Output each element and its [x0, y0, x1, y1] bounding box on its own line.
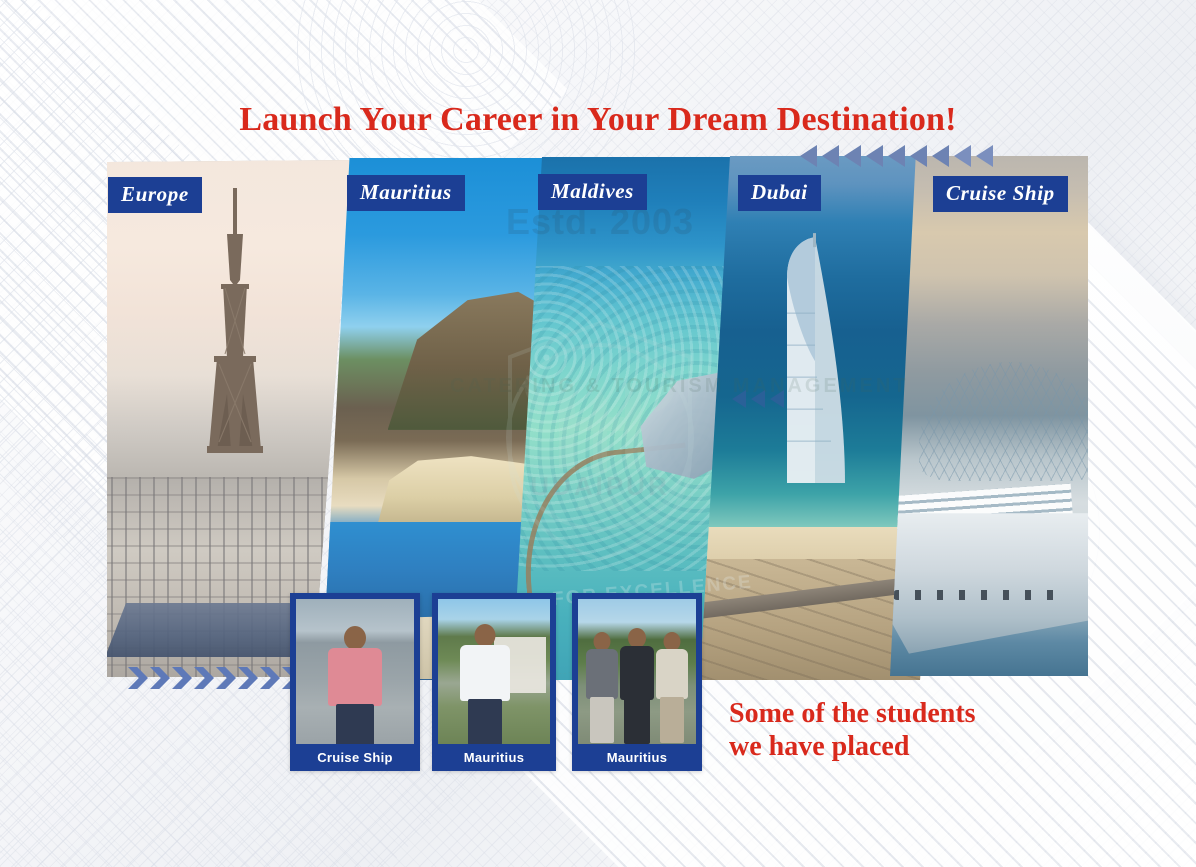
poster-canvas: Launch Your Career in Your Dream Destina… [0, 0, 1196, 867]
paris-blue-roof [107, 603, 315, 657]
chevron-right-icon [238, 667, 258, 689]
triangle-left-icon [822, 145, 839, 167]
student-photo [296, 599, 414, 744]
destination-label-maldives[interactable]: Maldives [538, 174, 647, 210]
burj-al-arab-icon [771, 233, 857, 483]
student-figure [617, 628, 657, 744]
cruise-ship-glass-dome [919, 362, 1088, 481]
student-photo-card[interactable]: Mauritius [432, 593, 556, 771]
student-head [628, 628, 646, 648]
eiffel-tower-icon [197, 188, 273, 488]
student-torso [328, 648, 382, 706]
cruise-ship-hull [890, 513, 1088, 653]
student-figure [583, 632, 621, 744]
destination-label-cruise-ship[interactable]: Cruise Ship [933, 176, 1068, 212]
student-torso [656, 649, 688, 699]
triangle-left-icon [844, 145, 861, 167]
student-caption: Cruise Ship [296, 744, 414, 771]
student-torso [586, 649, 618, 699]
student-photo [578, 599, 696, 744]
student-torso [460, 645, 510, 701]
student-legs [590, 697, 614, 743]
destination-label-dubai[interactable]: Dubai [738, 175, 821, 211]
triangle-left-icon [932, 145, 949, 167]
student-head [344, 626, 366, 650]
student-head [475, 624, 496, 647]
students-placed-line-1: Some of the students [729, 697, 976, 730]
triangle-left-icon [954, 145, 971, 167]
student-photo-card[interactable]: Cruise Ship [290, 593, 420, 771]
chevron-right-icon [150, 667, 170, 689]
chevron-right-icon [260, 667, 280, 689]
chevron-right-icon [128, 667, 148, 689]
student-photo [438, 599, 550, 744]
students-placed-caption: Some of the students we have placed [729, 697, 976, 763]
student-photo-card[interactable]: Mauritius [572, 593, 702, 771]
triangle-left-icon [910, 145, 927, 167]
student-legs [624, 698, 650, 744]
triangle-left-icon [751, 390, 765, 408]
chevron-right-icon [216, 667, 236, 689]
student-caption: Mauritius [578, 744, 696, 771]
student-legs [336, 704, 374, 744]
student-figure [653, 632, 691, 744]
cruise-ship-photo [890, 156, 1088, 676]
destination-label-europe[interactable]: Europe [108, 177, 202, 213]
students-placed-line-2: we have placed [729, 730, 976, 763]
student-torso [620, 646, 654, 700]
student-legs [468, 699, 502, 744]
triangle-left-icon [976, 145, 993, 167]
chevron-right-icon [172, 667, 192, 689]
student-figure [456, 624, 514, 744]
decorative-arrows-dubai [732, 390, 784, 408]
student-legs [660, 697, 684, 743]
chevron-right-icon [194, 667, 214, 689]
student-figure [324, 626, 386, 744]
triangle-left-icon [770, 390, 784, 408]
triangle-left-icon [888, 145, 905, 167]
triangle-left-icon [800, 145, 817, 167]
decorative-arrows-top [800, 145, 993, 167]
decorative-chevrons-bottom-left [128, 667, 302, 689]
triangle-left-icon [732, 390, 746, 408]
destination-panel-cruise-ship[interactable] [890, 156, 1088, 676]
triangle-left-icon [866, 145, 883, 167]
destination-label-mauritius[interactable]: Mauritius [347, 175, 465, 211]
student-caption: Mauritius [438, 744, 550, 771]
cruise-ship-portholes [893, 590, 1067, 600]
